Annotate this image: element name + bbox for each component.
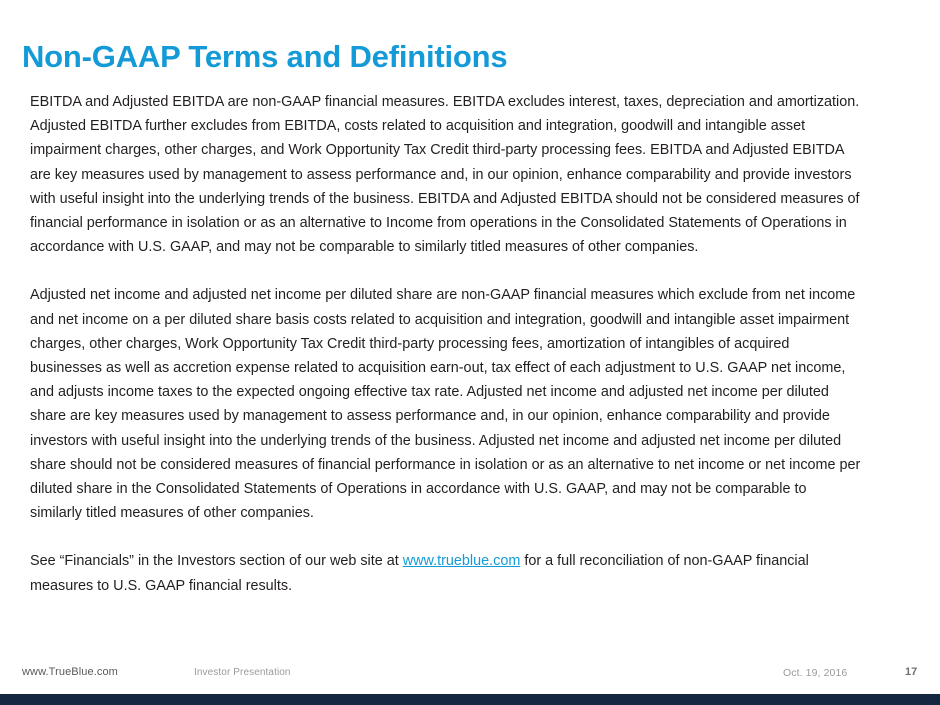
- paragraph-line: See “Financials” in the Investors sectio…: [30, 549, 910, 573]
- paragraph-adjusted-net-income-definition: Adjusted net income and adjusted net inc…: [30, 283, 910, 525]
- paragraph-line: accordance with U.S. GAAP, and may not b…: [30, 235, 910, 259]
- paragraph-line: impairment charges, other charges, and W…: [30, 138, 910, 162]
- paragraph-ebitda-definition: EBITDA and Adjusted EBITDA are non-GAAP …: [30, 90, 910, 259]
- paragraph-reconciliation-reference: See “Financials” in the Investors sectio…: [30, 549, 910, 597]
- slide-footer: www.TrueBlue.com Investor Presentation O…: [0, 666, 940, 694]
- paragraph-line: businesses as well as accretion expense …: [30, 356, 910, 380]
- page-title: Non-GAAP Terms and Definitions: [22, 40, 507, 74]
- paragraph-line: measures to U.S. GAAP financial results.: [30, 574, 910, 598]
- footer-website: www.TrueBlue.com: [22, 666, 118, 678]
- paragraph-line: Adjusted EBITDA further excludes from EB…: [30, 114, 910, 138]
- paragraph-line: are key measures used by management to a…: [30, 163, 910, 187]
- trueblue-website-link[interactable]: www.trueblue.com: [403, 553, 521, 569]
- paragraph-line: financial performance in isolation or as…: [30, 211, 910, 235]
- footer-date: Oct. 19, 2016: [783, 667, 847, 679]
- paragraph-line: EBITDA and Adjusted EBITDA are non-GAAP …: [30, 90, 910, 114]
- paragraph-line: similarly titled measures of other compa…: [30, 501, 910, 525]
- paragraph-line: and net income on a per diluted share ba…: [30, 308, 910, 332]
- reference-text-after-link: for a full reconciliation of non-GAAP fi…: [520, 553, 809, 569]
- footer-presentation-name: Investor Presentation: [194, 667, 291, 678]
- paragraph-line: and adjusts income taxes to the expected…: [30, 380, 910, 404]
- paragraph-line: share are key measures used by managemen…: [30, 404, 910, 428]
- paragraph-line: with useful insight into the underlying …: [30, 187, 910, 211]
- paragraph-line: charges, other charges, Work Opportunity…: [30, 332, 910, 356]
- footer-page-number: 17: [905, 666, 917, 678]
- footer-accent-bar: [0, 694, 940, 705]
- paragraph-line: Adjusted net income and adjusted net inc…: [30, 283, 910, 307]
- slide-body: EBITDA and Adjusted EBITDA are non-GAAP …: [30, 90, 910, 598]
- slide-canvas: Non-GAAP Terms and Definitions EBITDA an…: [0, 0, 940, 705]
- paragraph-line: diluted share in the Consolidated Statem…: [30, 477, 910, 501]
- reference-text-before-link: See “Financials” in the Investors sectio…: [30, 553, 403, 569]
- paragraph-line: investors with useful insight into the u…: [30, 429, 910, 453]
- paragraph-line: share should not be considered measures …: [30, 453, 910, 477]
